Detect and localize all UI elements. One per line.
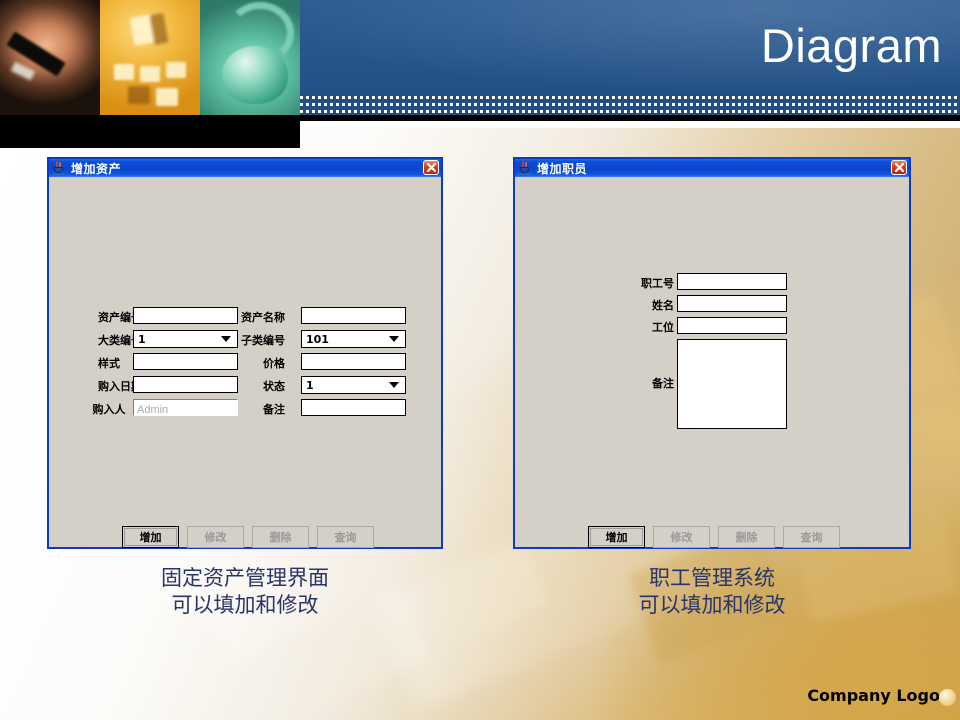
dialog-add-employee[interactable]: 增加职员 职工号 姓名 工位 备注 增加 修改 删除 查询	[513, 157, 911, 549]
chevron-down-icon	[389, 336, 399, 342]
input-workstation[interactable]	[677, 317, 787, 334]
select-subcategory-no[interactable]: 101	[301, 330, 406, 348]
input-employee-no[interactable]	[677, 273, 787, 290]
add-button[interactable]: 增加	[588, 526, 645, 548]
caption-right-line1: 职工管理系统	[649, 566, 775, 590]
caption-left-line2: 可以填加和修改	[70, 592, 420, 619]
select-status-value: 1	[302, 379, 389, 392]
label-employee-remark: 备注	[612, 377, 674, 391]
input-purchase-date[interactable]	[133, 376, 238, 393]
photo-mouse-teal	[200, 0, 300, 115]
label-subcategory-no: 子类编号	[241, 334, 307, 348]
select-subcategory-no-value: 101	[302, 333, 389, 346]
caption-right-line2: 可以填加和修改	[537, 592, 887, 619]
photo-strip	[0, 0, 300, 148]
photo-keyboard-gold	[100, 0, 200, 115]
query-button[interactable]: 查询	[317, 526, 374, 548]
java-cup-icon	[52, 161, 66, 175]
input-asset-name[interactable]	[301, 307, 406, 324]
label-asset-name: 资产名称	[241, 311, 307, 325]
add-button[interactable]: 增加	[122, 526, 179, 548]
dialog-titlebar[interactable]: 增加资产	[49, 159, 441, 177]
close-icon[interactable]	[423, 160, 439, 175]
query-button[interactable]: 查询	[783, 526, 840, 548]
label-employee-name: 姓名	[612, 299, 674, 313]
input-employee-name[interactable]	[677, 295, 787, 312]
select-status[interactable]: 1	[301, 376, 406, 394]
input-asset-no[interactable]	[133, 307, 238, 324]
label-price: 价格	[241, 357, 307, 371]
photo-strip-black-bar	[0, 115, 300, 148]
dialog-button-row: 增加 修改 删除 查询	[122, 526, 374, 548]
edit-button[interactable]: 修改	[187, 526, 244, 548]
dialog-title: 增加资产	[71, 160, 121, 177]
delete-button[interactable]: 删除	[252, 526, 309, 548]
input-purchaser-placeholder: Admin	[134, 403, 171, 417]
edit-button[interactable]: 修改	[653, 526, 710, 548]
caption-right: 职工管理系统 可以填加和修改	[537, 565, 887, 619]
label-remark: 备注	[241, 403, 307, 417]
java-cup-icon	[518, 161, 532, 175]
dialog-body: 资产编号 资产名称 大类编号 1 子类编号 101 样式 价格 购入日期	[51, 179, 439, 545]
dialog-button-row: 增加 修改 删除 查询	[588, 526, 840, 548]
select-category-no[interactable]: 1	[133, 330, 238, 348]
input-price[interactable]	[301, 353, 406, 370]
page-title: Diagram	[761, 22, 942, 69]
input-style[interactable]	[133, 353, 238, 370]
label-employee-no: 职工号	[612, 277, 674, 291]
dialog-add-asset[interactable]: 增加资产 资产编号 资产名称 大类编号 1 子类编号 101 样式	[47, 157, 443, 549]
select-category-no-value: 1	[134, 333, 221, 346]
dialog-title: 增加职员	[537, 160, 587, 177]
company-logo-text: Company Logo	[807, 686, 940, 705]
input-purchaser[interactable]: Admin	[133, 399, 238, 416]
delete-button[interactable]: 删除	[718, 526, 775, 548]
chevron-down-icon	[389, 382, 399, 388]
caption-left: 固定资产管理界面 可以填加和修改	[70, 565, 420, 619]
company-logo-mark	[939, 689, 956, 706]
label-workstation: 工位	[612, 321, 674, 335]
textarea-employee-remark[interactable]	[677, 339, 787, 429]
label-status: 状态	[241, 380, 307, 394]
dialog-titlebar[interactable]: 增加职员	[515, 159, 909, 177]
close-icon[interactable]	[891, 160, 907, 175]
input-remark[interactable]	[301, 399, 406, 416]
chevron-down-icon	[221, 336, 231, 342]
caption-left-line1: 固定资产管理界面	[161, 566, 329, 590]
slide-root: Diagram 增加资产	[0, 0, 960, 720]
dialog-body: 职工号 姓名 工位 备注 增加 修改 删除 查询	[517, 179, 907, 545]
photo-pen-writing	[0, 0, 100, 115]
